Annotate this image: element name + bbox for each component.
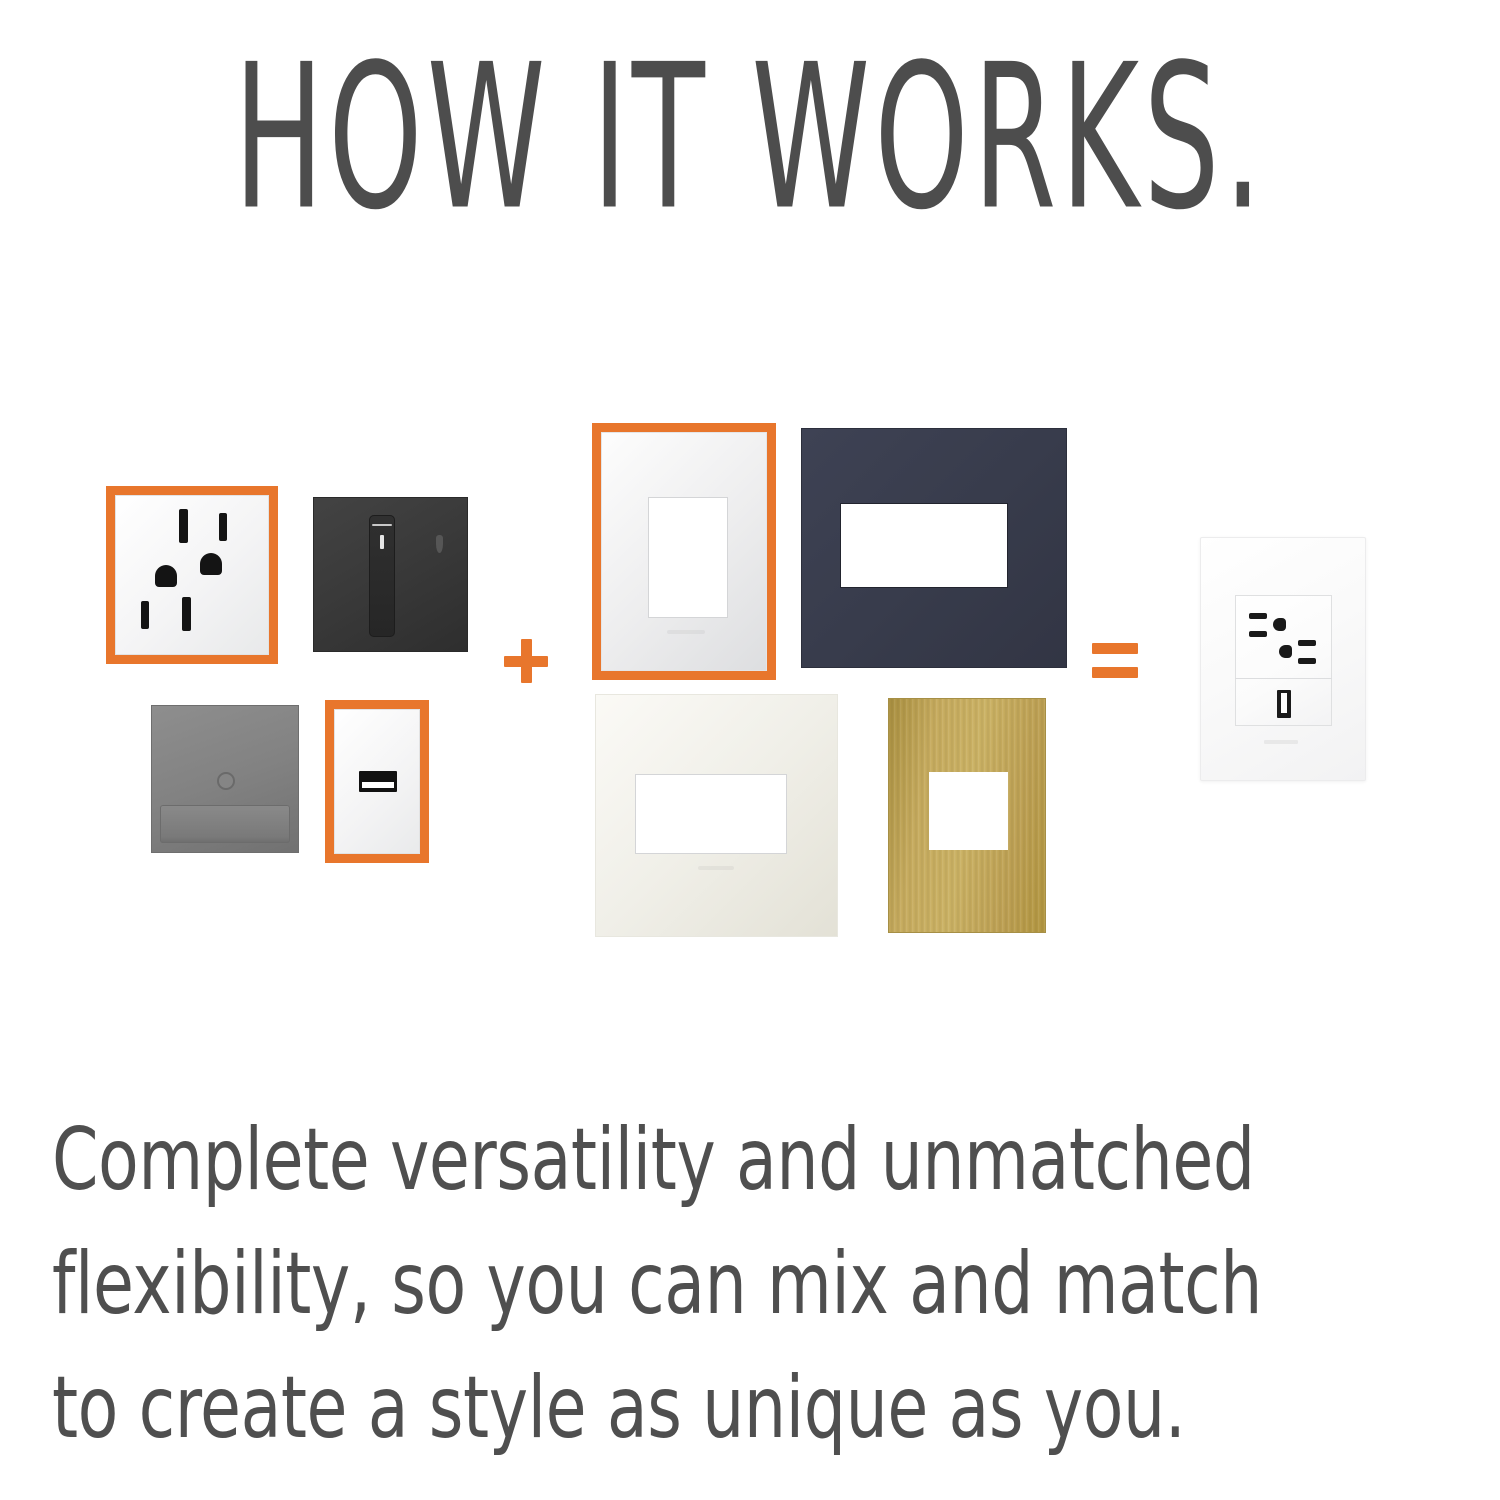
dimmer-led-indicator: [380, 535, 384, 549]
equals-icon-bar-top: [1092, 643, 1138, 654]
assembled-outlet-usb-plate[interactable]: [1200, 537, 1366, 781]
equals-icon-bar-bottom: [1092, 667, 1138, 678]
usb-port-inner: [362, 782, 394, 788]
outlet-slot-neutral-top: [179, 509, 188, 543]
outlet-slot-neutral-bottom: [182, 597, 191, 631]
selection-frame-outlet[interactable]: [106, 486, 278, 664]
plate-opening-vertical: [648, 497, 728, 618]
wall-plate-ivory-two-gang[interactable]: [595, 694, 838, 937]
selection-frame-usb[interactable]: [325, 700, 429, 863]
result-module-divider: [1235, 678, 1332, 679]
wall-plate-brass-one-gang[interactable]: [888, 698, 1046, 933]
result-usb-port: [1277, 690, 1291, 718]
result-outlet-ground-a: [1273, 618, 1286, 631]
dimmer-top-line: [372, 524, 392, 526]
plus-operator: [504, 639, 548, 683]
dimmer-switch-module[interactable]: [313, 497, 468, 652]
outlet-slot-hot-bottom: [141, 601, 149, 629]
paddle-switch-module[interactable]: [151, 705, 299, 853]
plate-opening-horizontal: [635, 774, 787, 854]
poster-canvas: HOW IT WORKS.: [0, 0, 1500, 1500]
usb-port-icon: [359, 771, 397, 792]
result-outlet-slot-b1: [1298, 640, 1316, 646]
result-outlet-ground-b: [1279, 645, 1292, 658]
dimmer-rocker-bar[interactable]: [369, 515, 395, 637]
caption-text: Complete versatility and unmatched flexi…: [52, 1098, 1266, 1470]
plate-brandmark: [698, 866, 734, 870]
wall-plate-white-one-gang[interactable]: [601, 432, 767, 671]
result-plate-brandmark: [1264, 740, 1298, 744]
plate-opening-square: [929, 772, 1008, 850]
dimmer-side-indicator: [436, 535, 443, 553]
result-usb-port-inner: [1281, 693, 1287, 713]
wall-plate-navy-two-gang[interactable]: [801, 428, 1067, 668]
paddle-led-indicator: [217, 772, 235, 790]
usb-charger-module[interactable]: [334, 709, 420, 854]
outlet-ground-bottom: [155, 565, 177, 587]
page-title: HOW IT WORKS.: [210, 38, 1290, 238]
result-outlet-slot-a2: [1249, 631, 1267, 637]
result-outlet-slot-b2: [1298, 658, 1316, 664]
result-module-face: [1235, 595, 1332, 726]
paddle-rocker[interactable]: [160, 805, 290, 843]
result-outlet-slot-a1: [1249, 613, 1267, 619]
equals-operator: [1092, 643, 1138, 679]
selection-frame-white-plate[interactable]: [592, 423, 776, 680]
plate-opening-horizontal: [841, 504, 1007, 587]
duplex-outlet-module[interactable]: [115, 495, 269, 655]
plus-icon-vertical: [521, 639, 532, 683]
plate-brandmark: [667, 630, 705, 634]
outlet-slot-hot-top: [219, 513, 227, 541]
outlet-ground-top: [200, 553, 222, 575]
